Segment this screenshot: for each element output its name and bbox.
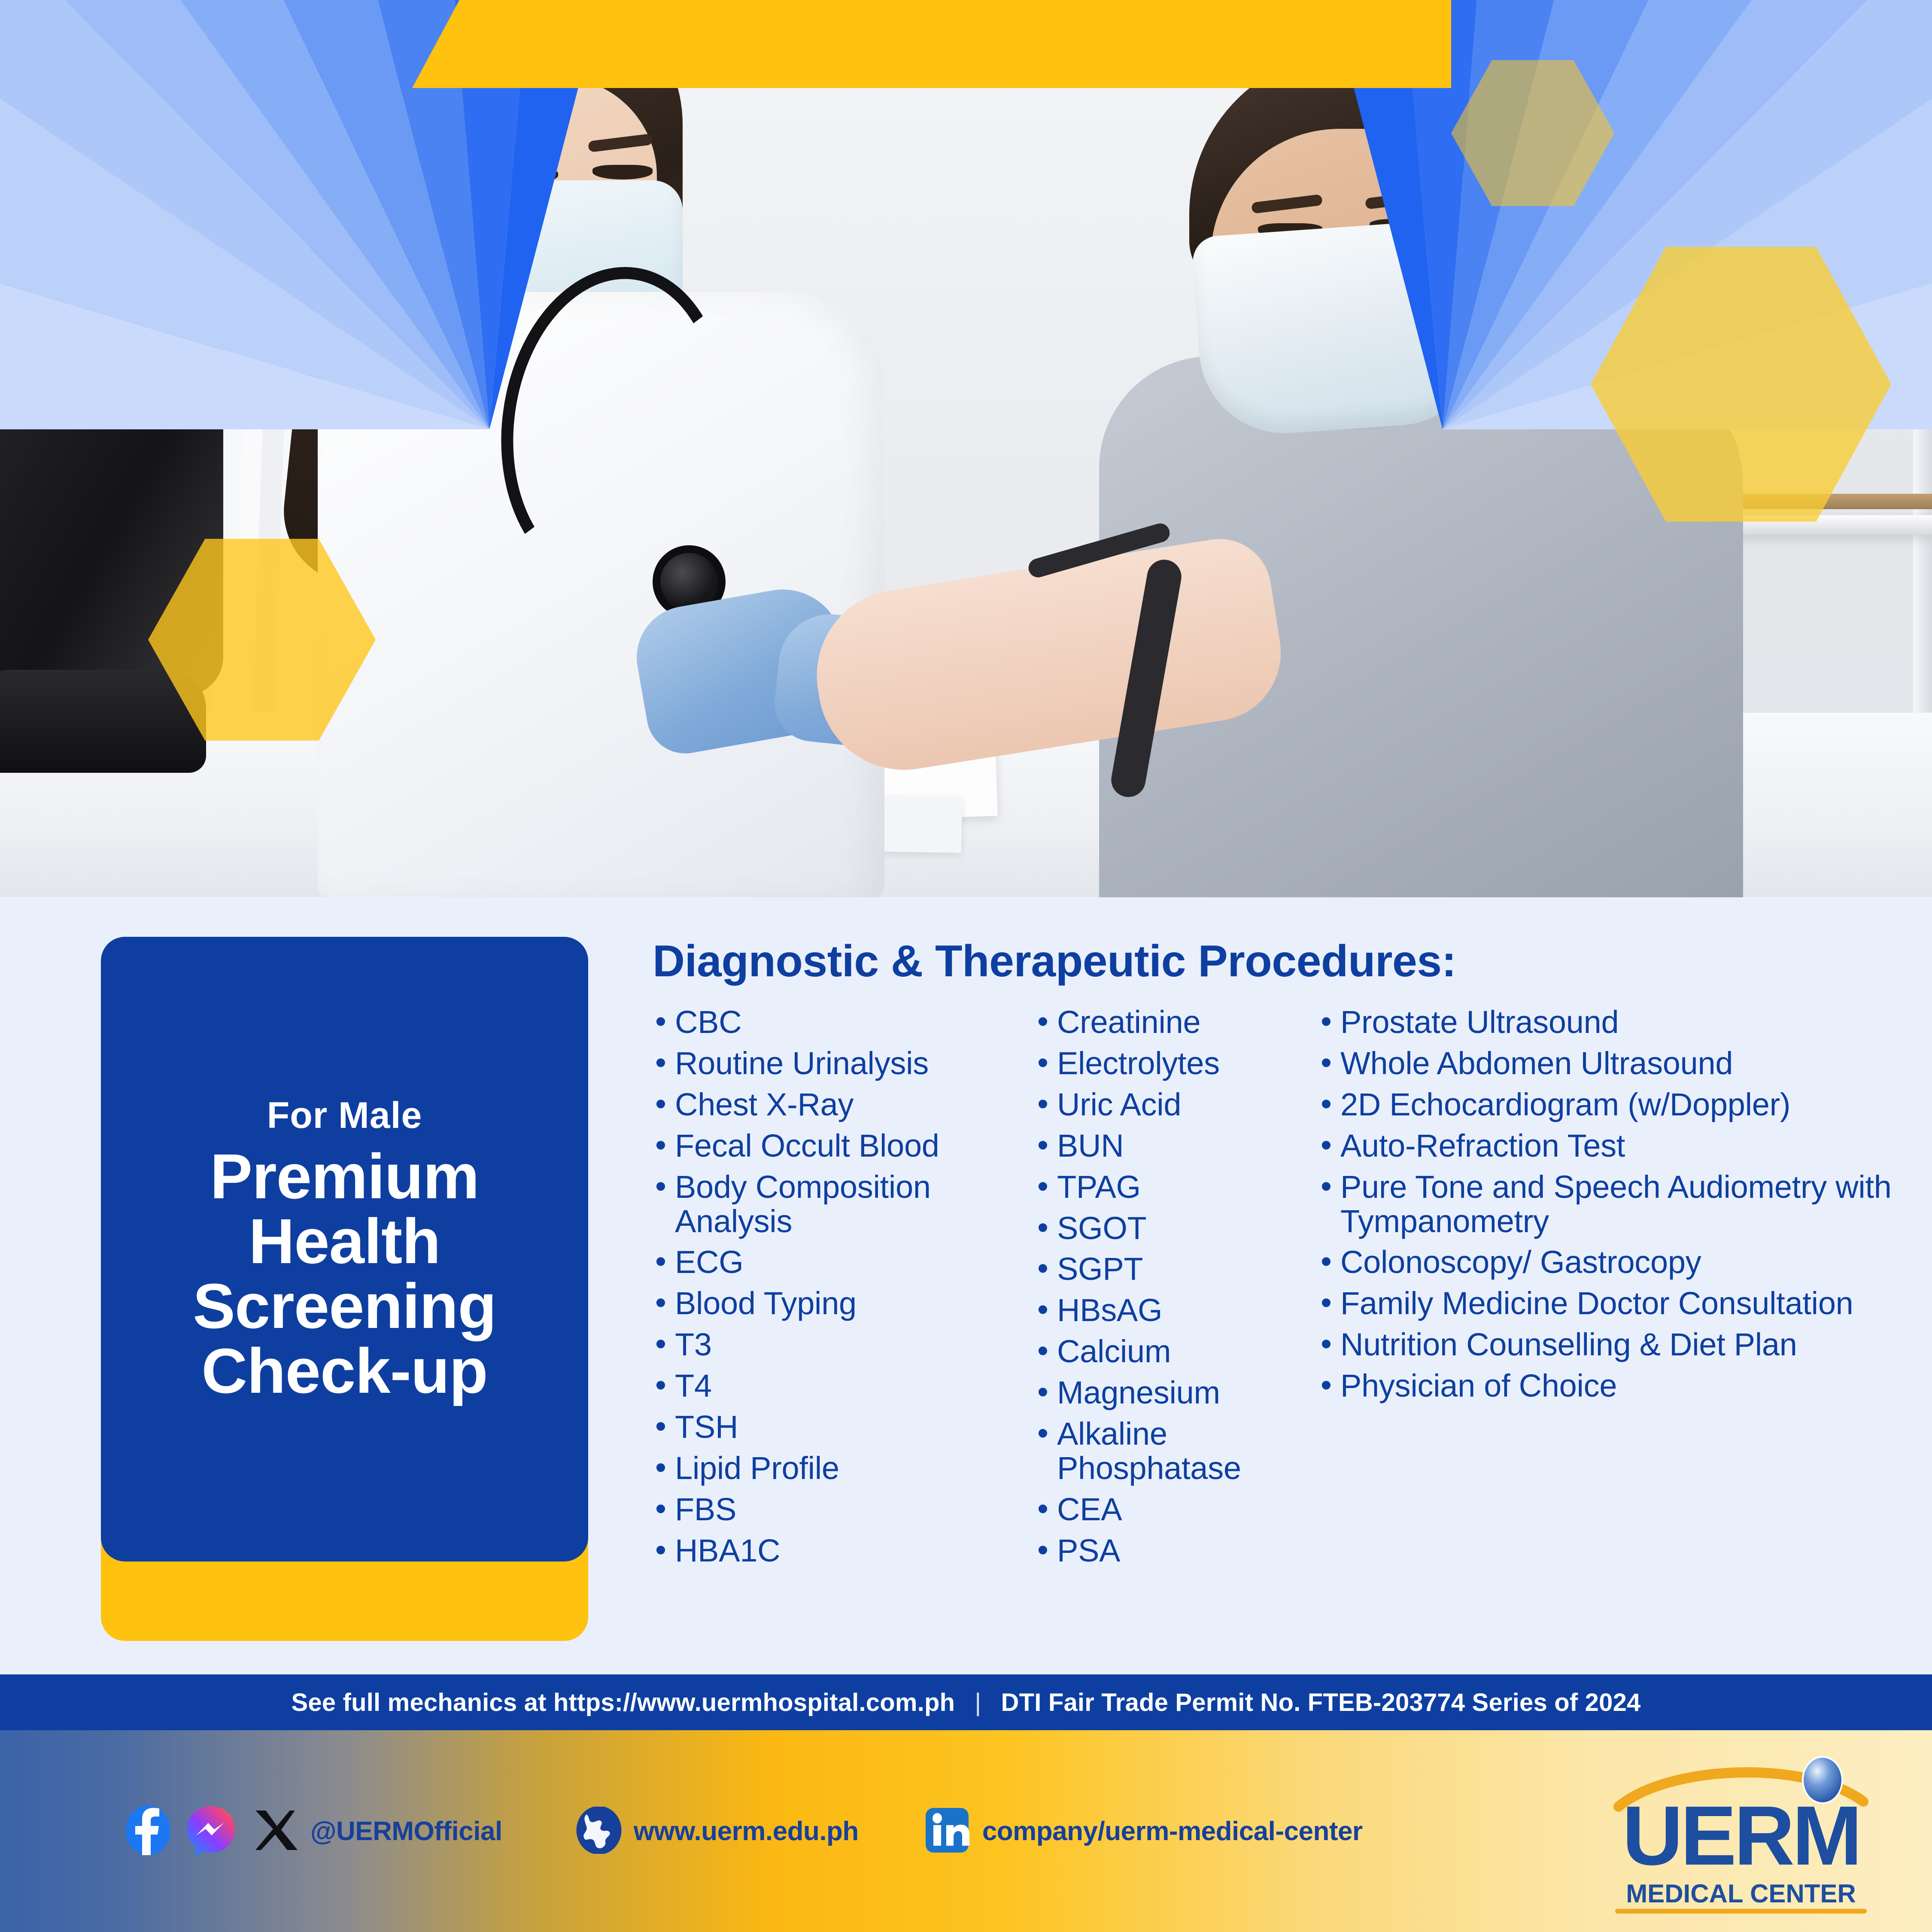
list-item: Pure Tone and Speech Audiometry with Tym… bbox=[1318, 1170, 1898, 1239]
list-item: TSH bbox=[653, 1410, 1035, 1444]
list-item: Whole Abdomen Ultrasound bbox=[1318, 1046, 1898, 1081]
list-item: T4 bbox=[653, 1369, 1035, 1403]
list-item: Uric Acid bbox=[1035, 1088, 1318, 1122]
content-section: For Male Premium Health Screening Check-… bbox=[0, 897, 1932, 1674]
list-item: Physician of Choice bbox=[1318, 1369, 1898, 1403]
list-item: Colonoscopy/ Gastrocopy bbox=[1318, 1245, 1898, 1279]
uerm-wordmark: UERM bbox=[1606, 1794, 1876, 1878]
procedures-column-3: Prostate Ultrasound Whole Abdomen Ultras… bbox=[1318, 1005, 1898, 1575]
list-item: Body Composition Analysis bbox=[653, 1170, 1035, 1239]
list-item: Nutrition Counselling & Diet Plan bbox=[1318, 1327, 1898, 1362]
list-item: Prostate Ultrasound bbox=[1318, 1005, 1898, 1039]
list-item: Electrolytes bbox=[1035, 1046, 1318, 1081]
list-item: 2D Echocardiogram (w/Doppler) bbox=[1318, 1088, 1898, 1122]
list-item: SGOT bbox=[1035, 1211, 1318, 1245]
mechanics-bar: See full mechanics at https://www.uermho… bbox=[0, 1674, 1932, 1730]
social-handles-group: @UERMOfficial bbox=[122, 1804, 502, 1858]
list-item: Chest X-Ray bbox=[653, 1088, 1035, 1122]
website-text[interactable]: www.uerm.edu.ph bbox=[634, 1816, 859, 1847]
package-title-line-2: Health bbox=[193, 1209, 496, 1274]
x-twitter-icon[interactable] bbox=[249, 1806, 298, 1856]
uerm-logo: UERM Medical Center bbox=[1606, 1756, 1876, 1919]
list-item: BUN bbox=[1035, 1129, 1318, 1163]
list-item: SGPT bbox=[1035, 1252, 1318, 1286]
list-item: TPAG bbox=[1035, 1170, 1318, 1204]
list-item: ECG bbox=[653, 1245, 1035, 1279]
list-item: PSA bbox=[1035, 1534, 1318, 1568]
facebook-icon[interactable] bbox=[122, 1804, 174, 1858]
list-item: Fecal Occult Blood bbox=[653, 1129, 1035, 1163]
procedures-section: Diagnostic & Therapeutic Procedures: CBC… bbox=[653, 936, 1898, 1575]
list-item: Blood Typing bbox=[653, 1286, 1035, 1321]
footer-bar: @UERMOfficial www.uerm.edu.ph company/ue… bbox=[0, 1730, 1932, 1932]
list-item: Calcium bbox=[1035, 1334, 1318, 1369]
package-title: Premium Health Screening Check-up bbox=[193, 1145, 496, 1404]
package-title-line-3: Screening bbox=[193, 1274, 496, 1339]
list-item: Creatinine bbox=[1035, 1005, 1318, 1039]
hero-photo bbox=[0, 0, 1932, 897]
doctor-eye-right bbox=[592, 165, 653, 179]
package-title-line-4: Check-up bbox=[193, 1339, 496, 1404]
website-group: www.uerm.edu.ph bbox=[575, 1807, 859, 1856]
procedures-column-2: Creatinine Electrolytes Uric Acid BUN TP… bbox=[1035, 1005, 1318, 1575]
list-item: T3 bbox=[653, 1327, 1035, 1362]
uerm-logo-rule bbox=[1615, 1909, 1867, 1914]
linkedin-group: company/uerm-medical-center bbox=[923, 1806, 1363, 1856]
procedures-column-1: CBC Routine Urinalysis Chest X-Ray Fecal… bbox=[653, 1005, 1035, 1575]
procedures-list-1: CBC Routine Urinalysis Chest X-Ray Fecal… bbox=[653, 1005, 1035, 1568]
procedures-columns: CBC Routine Urinalysis Chest X-Ray Fecal… bbox=[653, 1005, 1898, 1575]
list-item: Lipid Profile bbox=[653, 1451, 1035, 1485]
list-item: FBS bbox=[653, 1492, 1035, 1527]
mechanics-url-text[interactable]: See full mechanics at https://www.uermho… bbox=[291, 1688, 955, 1717]
patient-face-mask bbox=[1191, 218, 1488, 439]
yellow-triangle-top-right bbox=[1264, 0, 1419, 75]
package-title-line-1: Premium bbox=[193, 1145, 496, 1209]
procedures-list-3: Prostate Ultrasound Whole Abdomen Ultras… bbox=[1318, 1005, 1898, 1403]
linkedin-text[interactable]: company/uerm-medical-center bbox=[982, 1816, 1363, 1847]
procedures-list-2: Creatinine Electrolytes Uric Acid BUN TP… bbox=[1035, 1005, 1318, 1568]
social-handle-text[interactable]: @UERMOfficial bbox=[310, 1816, 502, 1847]
list-item: HBA1C bbox=[653, 1534, 1035, 1568]
list-item: Family Medicine Doctor Consultation bbox=[1318, 1286, 1898, 1321]
list-item: Auto-Refraction Test bbox=[1318, 1129, 1898, 1163]
list-item: CBC bbox=[653, 1005, 1035, 1039]
linkedin-icon[interactable] bbox=[923, 1806, 971, 1856]
list-item: Alkaline Phosphatase bbox=[1035, 1417, 1318, 1485]
mechanics-separator: | bbox=[975, 1688, 981, 1717]
uerm-tagline: Medical Center bbox=[1606, 1879, 1876, 1908]
dti-permit-text: DTI Fair Trade Permit No. FTEB-203774 Se… bbox=[1001, 1688, 1641, 1717]
list-item: CEA bbox=[1035, 1492, 1318, 1527]
package-eyebrow: For Male bbox=[267, 1094, 422, 1137]
messenger-icon[interactable] bbox=[185, 1804, 237, 1858]
globe-icon bbox=[575, 1807, 623, 1856]
procedures-heading: Diagnostic & Therapeutic Procedures: bbox=[653, 936, 1898, 987]
list-item: Routine Urinalysis bbox=[653, 1046, 1035, 1081]
package-card: For Male Premium Health Screening Check-… bbox=[101, 937, 588, 1561]
list-item: Magnesium bbox=[1035, 1376, 1318, 1410]
list-item: HBsAG bbox=[1035, 1293, 1318, 1327]
